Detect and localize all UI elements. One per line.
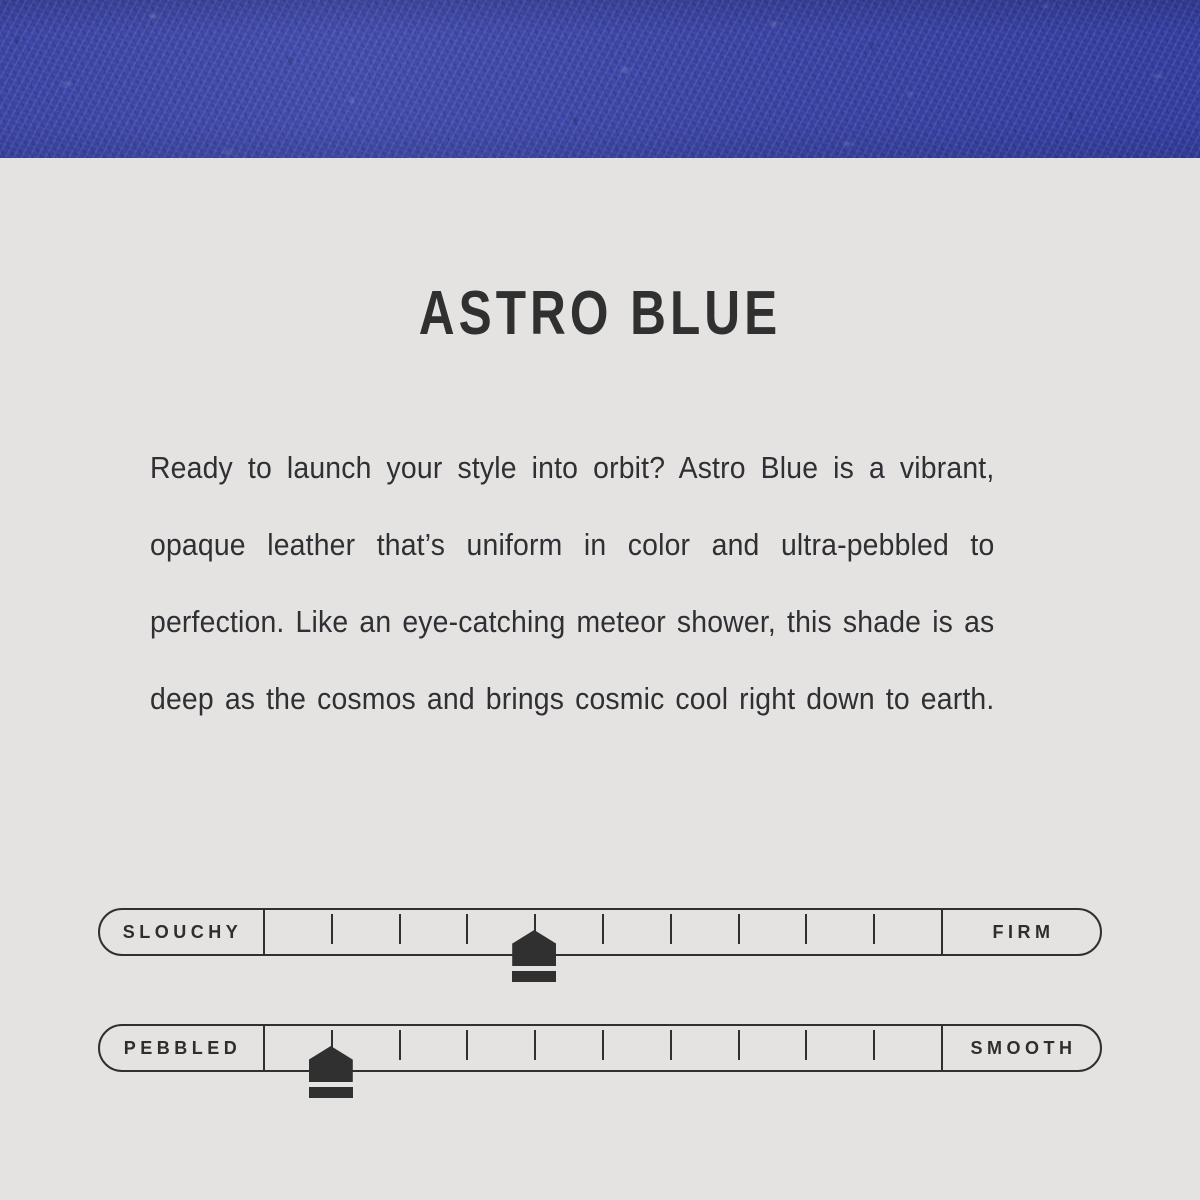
slider-marker-bar-icon bbox=[512, 971, 556, 982]
slider-tick bbox=[602, 1030, 604, 1060]
slider-track[interactable] bbox=[263, 908, 941, 956]
product-color-card: ASTRO BLUE Ready to launch your style in… bbox=[0, 0, 1200, 1200]
slider-tick bbox=[534, 914, 536, 944]
slider-label-right: SMOOTH bbox=[941, 1024, 1102, 1072]
slider-tick bbox=[602, 914, 604, 944]
slider-tick bbox=[466, 1030, 468, 1060]
slider-tick bbox=[873, 914, 875, 944]
slider-label-right: FIRM bbox=[941, 908, 1102, 956]
slider-texture[interactable]: PEBBLED SMOOTH bbox=[98, 1024, 1102, 1072]
slider-track[interactable] bbox=[263, 1024, 941, 1072]
slider-tick bbox=[738, 1030, 740, 1060]
slider-tick bbox=[331, 1030, 333, 1060]
slider-tick bbox=[738, 914, 740, 944]
slider-tick bbox=[466, 914, 468, 944]
slider-tick bbox=[805, 914, 807, 944]
slider-tick bbox=[534, 1030, 536, 1060]
slider-tick bbox=[399, 914, 401, 944]
page-title: ASTRO BLUE bbox=[120, 278, 1080, 349]
leather-swatch-image bbox=[0, 0, 1200, 158]
slider-label-left: PEBBLED bbox=[98, 1024, 263, 1072]
description-text: Ready to launch your style into orbit? A… bbox=[150, 430, 994, 815]
slider-tick bbox=[873, 1030, 875, 1060]
slider-tick bbox=[670, 914, 672, 944]
slider-tick bbox=[331, 914, 333, 944]
slider-structure[interactable]: SLOUCHY FIRM bbox=[98, 908, 1102, 956]
slider-marker-bar-icon bbox=[309, 1087, 353, 1098]
slider-label-left: SLOUCHY bbox=[98, 908, 263, 956]
slider-tick bbox=[399, 1030, 401, 1060]
swatch-vignette bbox=[0, 0, 1200, 158]
slider-tick bbox=[670, 1030, 672, 1060]
slider-tick bbox=[805, 1030, 807, 1060]
